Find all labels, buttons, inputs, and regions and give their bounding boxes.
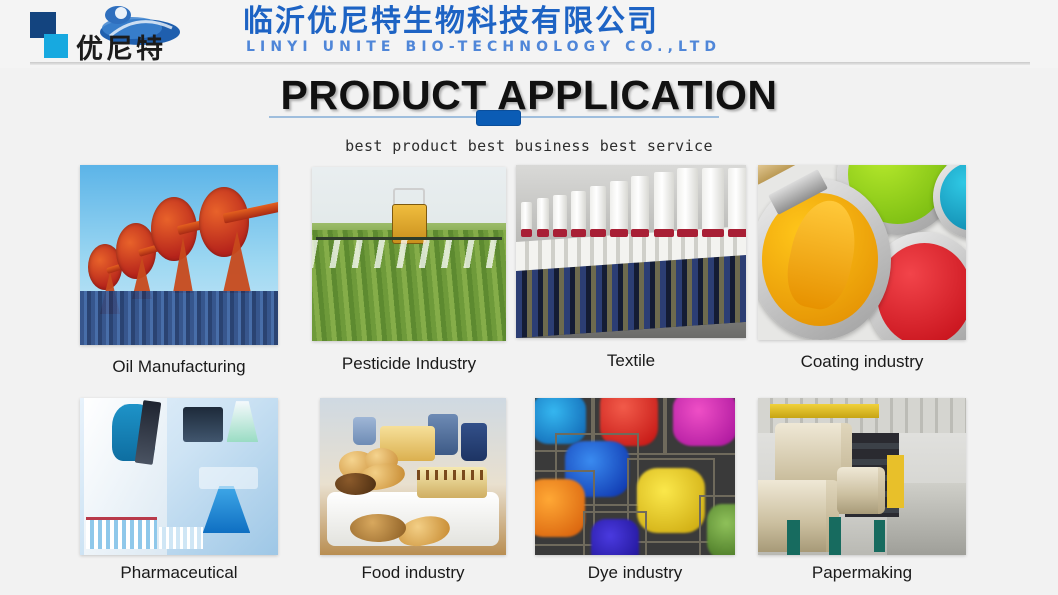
card-caption: Dye industry: [535, 563, 735, 583]
card-caption: Papermaking: [758, 563, 966, 583]
card-caption: Coating industry: [758, 352, 966, 372]
card-caption: Pharmaceutical: [80, 563, 278, 583]
company-logo: 优尼特: [30, 8, 230, 60]
company-name-cn: 临沂优尼特生物科技有限公司: [243, 6, 659, 38]
logo-square-light-icon: [44, 34, 68, 58]
thumbnail-bakery-goods: [320, 398, 506, 555]
card-oil-manufacturing[interactable]: Oil Manufacturing: [80, 165, 278, 345]
thumbnail-pigment-powders: [535, 398, 735, 555]
page-subtitle: best product best business best service: [0, 137, 1058, 155]
page-header: 优尼特 临沂优尼特生物科技有限公司 LINYI UNITE BIO-TECHNO…: [0, 0, 1058, 68]
thumbnail-spinning-machine: [516, 165, 746, 338]
thumbnail-paper-rolls: [758, 398, 966, 555]
logo-brand-text: 优尼特: [76, 36, 166, 63]
card-pesticide-industry[interactable]: Pesticide Industry: [312, 167, 506, 341]
card-coating-industry[interactable]: Coating industry: [758, 165, 966, 340]
thumbnail-laboratory: [80, 398, 278, 555]
card-caption: Food industry: [320, 563, 506, 583]
card-caption: Pesticide Industry: [312, 354, 506, 374]
card-pharmaceutical[interactable]: Pharmaceutical: [80, 398, 278, 555]
card-caption: Oil Manufacturing: [80, 357, 278, 377]
card-food-industry[interactable]: Food industry: [320, 398, 506, 555]
title-accent-pill: [476, 110, 521, 126]
card-dye-industry[interactable]: Dye industry: [535, 398, 735, 555]
company-name-en: LINYI UNITE BIO-TECHNOLOGY CO.,LTD: [246, 39, 721, 55]
card-textile[interactable]: Textile: [516, 165, 746, 338]
header-divider: [30, 62, 1030, 65]
page-title: PRODUCT APPLICATION: [0, 72, 1058, 119]
card-papermaking[interactable]: Papermaking: [758, 398, 966, 555]
thumbnail-paint-cans: [758, 165, 966, 340]
thumbnail-crop-sprayer: [312, 167, 506, 341]
card-caption: Textile: [516, 351, 746, 371]
thumbnail-oil-pumpjacks: [80, 165, 278, 345]
